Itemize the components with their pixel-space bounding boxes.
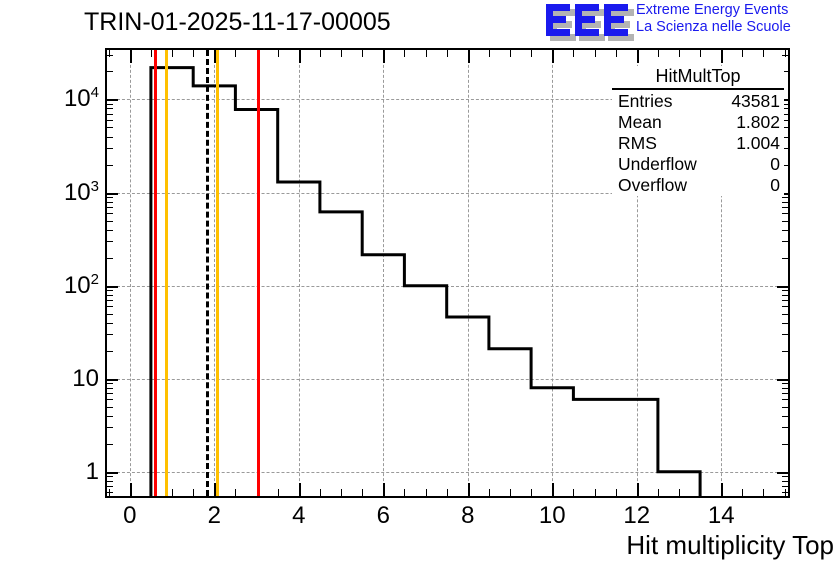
stats-row: Entries43581 <box>612 91 784 112</box>
eee-logo-letters <box>546 4 630 36</box>
x-axis-title: Hit multiplicity Top <box>626 530 834 561</box>
stats-row: Overflow0 <box>612 175 784 196</box>
stats-row-key: RMS <box>618 133 657 154</box>
stats-title: HitMultTop <box>612 66 784 88</box>
marker-line-red-left <box>154 50 157 496</box>
root-canvas: TRIN-01-2025-11-17-00005 <box>0 0 836 572</box>
x-axis-tick-label: 12 <box>623 502 650 530</box>
stats-row-key: Overflow <box>618 175 687 196</box>
stats-row: Mean1.802 <box>612 112 784 133</box>
stats-box: HitMultTop Entries43581Mean1.802RMS1.004… <box>612 66 784 196</box>
stats-row-key: Underflow <box>618 154 697 175</box>
eee-logo: Extreme Energy Events La Scienza nelle S… <box>546 2 834 38</box>
stats-row: Underflow0 <box>612 154 784 175</box>
stats-row: RMS1.004 <box>612 133 784 154</box>
stats-row-value: 0 <box>770 175 780 196</box>
x-axis-tick-label: 14 <box>708 502 735 530</box>
x-axis-tick-label: 4 <box>292 502 305 530</box>
page-title: TRIN-01-2025-11-17-00005 <box>84 8 391 37</box>
y-axis-tick-label: 104 <box>64 85 99 113</box>
eee-logo-line1: Extreme Energy Events <box>636 2 791 19</box>
stats-row-value: 0 <box>770 154 780 175</box>
stats-row-value: 43581 <box>731 91 780 112</box>
stats-row-key: Entries <box>618 91 672 112</box>
marker-line-orange-left <box>165 50 168 496</box>
x-axis-tick-label: 2 <box>208 502 221 530</box>
stats-divider <box>612 88 784 90</box>
x-axis-tick-label: 10 <box>539 502 566 530</box>
y-axis-tick-label: 10 <box>72 365 99 393</box>
marker-line-mean-dashed <box>206 50 209 496</box>
x-axis-tick-label: 8 <box>461 502 474 530</box>
eee-logo-text: Extreme Energy Events La Scienza nelle S… <box>636 2 791 36</box>
eee-letter-e <box>604 4 628 36</box>
stats-rows: Entries43581Mean1.802RMS1.004Underflow0O… <box>612 91 784 196</box>
y-axis-tick-label: 103 <box>64 179 99 207</box>
eee-letter-e <box>575 4 599 36</box>
stats-row-value: 1.802 <box>736 112 780 133</box>
marker-line-orange-right <box>216 50 219 496</box>
y-axis-tick-label: 102 <box>64 272 99 300</box>
marker-line-red-right <box>257 50 260 496</box>
stats-row-key: Mean <box>618 112 662 133</box>
stats-row-value: 1.004 <box>736 133 780 154</box>
eee-logo-line2: La Scienza nelle Scuole <box>636 19 791 36</box>
eee-letter-e <box>546 4 570 36</box>
x-axis-tick-label: 0 <box>123 502 136 530</box>
y-axis-tick-label: 1 <box>86 458 99 486</box>
x-axis-tick-label: 6 <box>377 502 390 530</box>
